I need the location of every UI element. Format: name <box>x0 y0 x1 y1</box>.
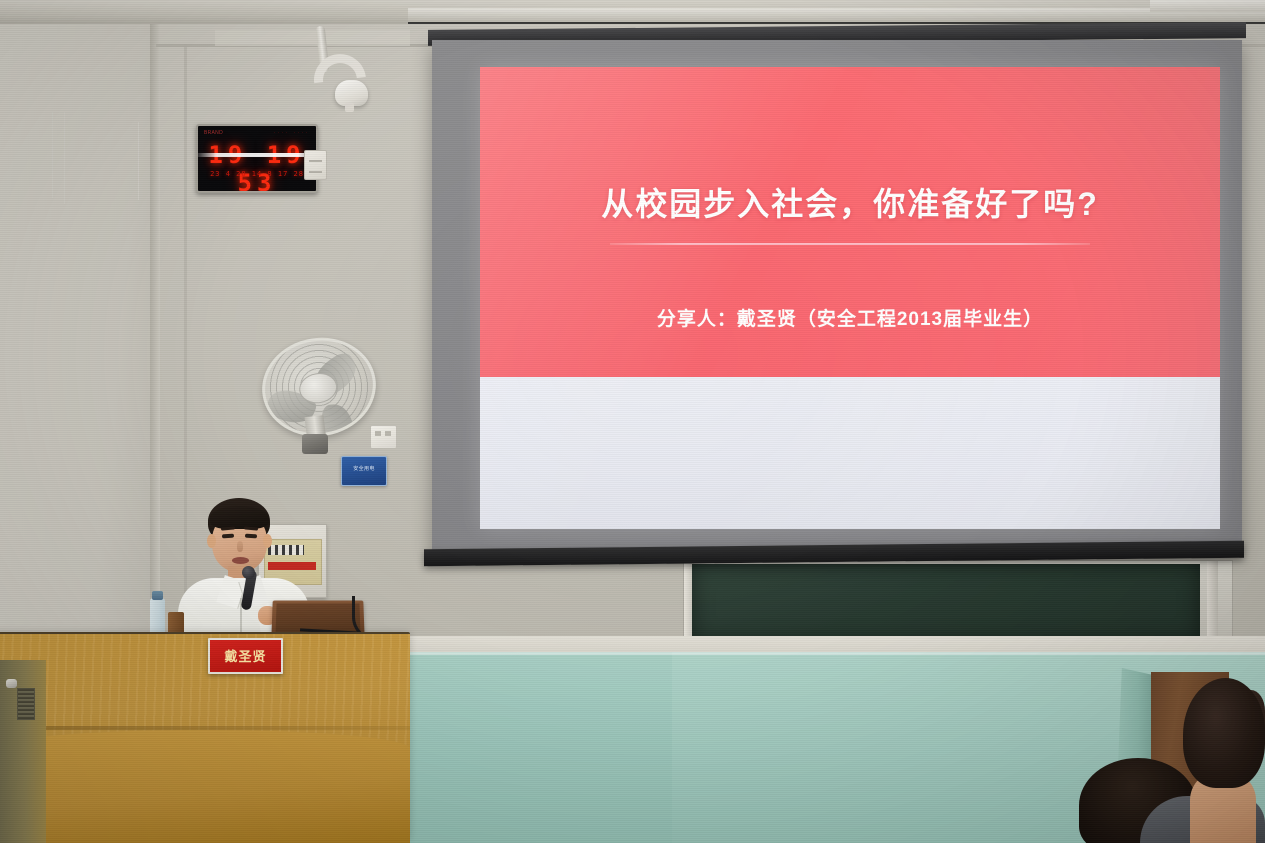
ceiling-rail-secondary <box>1150 0 1265 12</box>
wall-outlet-plate[interactable] <box>370 425 397 449</box>
microphone-head-icon <box>242 566 255 579</box>
fan-pull-cord[interactable] <box>52 112 53 198</box>
camera-mount <box>345 103 354 112</box>
wall-power-socket[interactable] <box>304 150 327 180</box>
presenter-ear-right <box>263 534 272 548</box>
lectern-curved-front <box>0 730 410 843</box>
fan-pull-cord[interactable] <box>138 122 139 200</box>
slide-subtitle: 分享人：戴圣贤（安全工程2013届毕业生） <box>480 304 1220 331</box>
projection-screen: 从校园步入社会，你准备好了吗? 分享人：戴圣贤（安全工程2013届毕业生） 中國… <box>432 40 1242 552</box>
presenter-eye-right <box>245 534 257 539</box>
ceiling-rail <box>408 8 1265 24</box>
presenter-nose <box>237 541 243 552</box>
audience-head <box>1183 678 1265 788</box>
wall-fan[interactable] <box>262 338 382 468</box>
lecture-hall-photo: BRAND ···· ···· 19 19 53 23 4 28 14 8 17… <box>0 0 1265 843</box>
clock-secondary-display: 23 4 28 14 8 17 28 <box>198 170 316 178</box>
slide-divider <box>610 243 1090 245</box>
presenter-eye-left <box>222 534 234 539</box>
slide-title-panel: 从校园步入社会，你准备好了吗? 分享人：戴圣贤（安全工程2013届毕业生） <box>480 67 1220 377</box>
blue-wall-sign-label: 安全用电 <box>342 465 386 472</box>
clock-top-indicators: ···· ···· <box>274 130 310 136</box>
presenter-mouth <box>232 557 249 564</box>
bottle-cap <box>152 591 163 600</box>
clock-brand-label: BRAND <box>204 130 223 136</box>
presenter-hair-fringe <box>210 506 269 529</box>
blue-wall-sign: 安全用电 <box>341 456 387 486</box>
clock-time-display: 19 19 53 <box>198 141 316 193</box>
chalkboard <box>692 564 1200 642</box>
slide-title: 从校园步入社会，你准备好了吗? <box>480 179 1220 225</box>
presenter-ear-left <box>207 534 216 548</box>
clock-glare <box>196 153 318 157</box>
wall-patch <box>215 30 410 46</box>
name-plate-text: 戴圣贤 <box>210 646 281 665</box>
lectern-knob[interactable] <box>6 679 17 688</box>
projected-slide: 从校园步入社会，你准备好了吗? 分享人：戴圣贤（安全工程2013届毕业生） 中國… <box>480 67 1220 529</box>
fan-pull-cord[interactable] <box>64 112 65 204</box>
fan-motor <box>302 434 328 454</box>
lectern-speaker-grille <box>17 688 35 720</box>
slide-lower-panel: 中國稀土集團 CHINA RARE EARTH GROUP CO.,LTD. <box>480 377 1220 529</box>
name-plate: 戴圣贤 <box>208 638 283 674</box>
led-wall-clock: BRAND ···· ···· 19 19 53 23 4 28 14 8 17… <box>196 124 318 193</box>
wall-corner-edge <box>150 24 160 640</box>
left-wall-plane <box>0 24 156 640</box>
